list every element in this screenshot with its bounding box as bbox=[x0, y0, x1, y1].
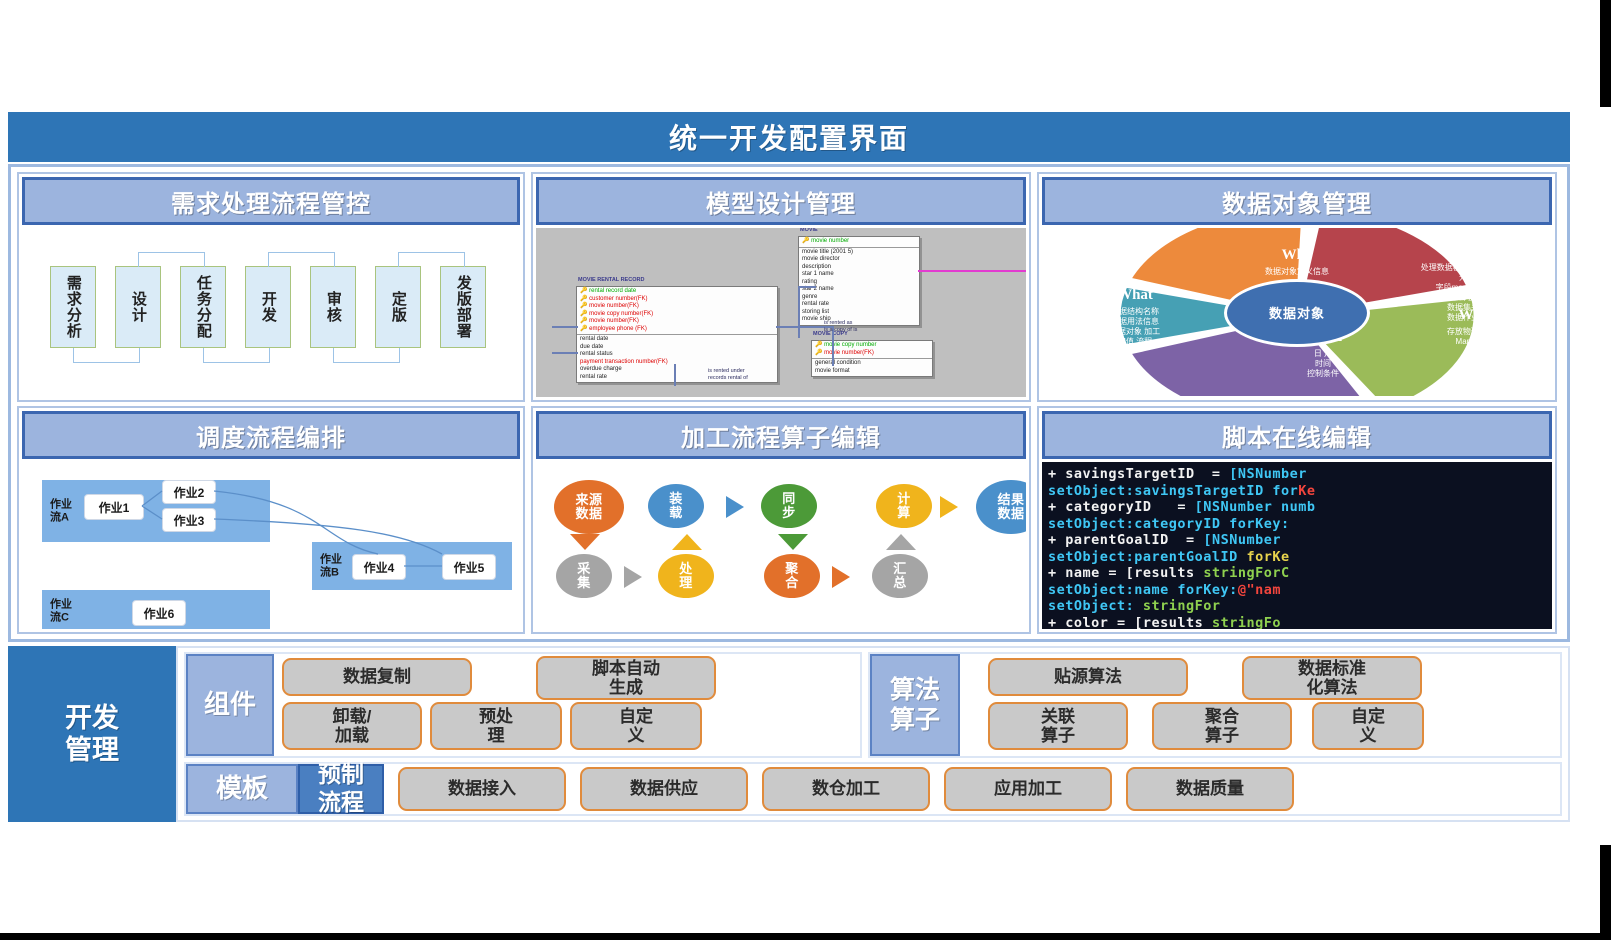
panel-operator-edit[interactable]: 加工流程算子编辑 来源数据装载同步计算结果数据采集处理聚合汇总 bbox=[531, 406, 1031, 634]
panel-scheduling-body: 作业流A作业流B作业流C作业1作业2作业3作业4作业5作业6 bbox=[22, 462, 520, 629]
panel-data-object-title: 数据对象管理 bbox=[1222, 184, 1372, 219]
panel-model-design-body: 🔑 rental record date🔑 customer number(FK… bbox=[536, 228, 1026, 397]
operator-node[interactable]: 处理 bbox=[658, 554, 714, 598]
panel-row-1: 需求处理流程管控 需求分析设计任务分配开发审核定版发版部署 模型设计管理 🔑 r… bbox=[17, 172, 1563, 402]
panel-script-editor[interactable]: 脚本在线编辑 + savingsTargetID = [NSNumber set… bbox=[1037, 406, 1557, 634]
development-management-label-text: 开发管理 bbox=[65, 702, 119, 767]
data-object-pie-chart: Who数据对象定义信息How处理数据模型 数据分 数据元数 字段mapping信… bbox=[1042, 228, 1552, 397]
pie-center: 数据对象 bbox=[1224, 279, 1370, 347]
dev-pill-label: 自定义 bbox=[619, 707, 653, 745]
requirement-step[interactable]: 发版部署 bbox=[440, 266, 486, 348]
dev-group-label-text: 算法算子 bbox=[890, 675, 940, 735]
panel-requirement-process-body: 需求分析设计任务分配开发审核定版发版部署 bbox=[22, 228, 520, 397]
dev-pill[interactable]: 数据复制 bbox=[282, 658, 472, 696]
panel-requirement-process-title: 需求处理流程管控 bbox=[171, 184, 371, 219]
flow-connector bbox=[268, 252, 335, 267]
dev-pill[interactable]: 数据标准化算法 bbox=[1242, 656, 1422, 700]
dev-group: 组件数据复制脚本自动生成卸载/加载预处理自定义 bbox=[184, 652, 862, 758]
er-relation-line bbox=[552, 326, 578, 328]
pie-label-who: Who数据对象定义信息 bbox=[1192, 246, 1402, 277]
dev-group-label[interactable]: 模板 bbox=[186, 764, 298, 814]
dev-pill-label: 预处理 bbox=[479, 707, 513, 745]
operator-node-label: 结果数据 bbox=[997, 493, 1024, 520]
requirement-step-label: 定版 bbox=[390, 291, 406, 323]
operator-arrow bbox=[672, 534, 702, 550]
operator-arrow bbox=[940, 496, 958, 518]
er-table-keys: 🔑 movie copy number🔑 movie number(FK) bbox=[812, 341, 932, 358]
panel-scheduling[interactable]: 调度流程编排 作业流A作业流B作业流C作业1作业2作业3作业4作业5作业6 bbox=[17, 406, 525, 634]
dev-group: 模板 预制流程数据接入数据供应数仓加工应用加工数据质量 bbox=[184, 762, 1562, 816]
panel-data-object-body: Who数据对象定义信息How处理数据模型 数据分 数据元数 字段mapping信… bbox=[1042, 228, 1552, 397]
pie-label-title: Where bbox=[1410, 306, 1550, 325]
operator-arrow bbox=[570, 534, 600, 550]
er-table-fields: general conditionmovie format bbox=[812, 358, 932, 376]
operator-node[interactable]: 同步 bbox=[761, 484, 817, 528]
operator-node-label: 同步 bbox=[782, 492, 796, 519]
operator-node-label: 来源数据 bbox=[575, 493, 602, 520]
dev-pill[interactable]: 自定义 bbox=[1312, 702, 1424, 750]
er-relation-line bbox=[798, 286, 816, 288]
operator-node-label: 采集 bbox=[577, 562, 591, 589]
operator-arrow bbox=[832, 566, 850, 588]
er-relation-note: is rented underrecords rental of bbox=[708, 368, 748, 381]
operator-flow-diagram: 来源数据装载同步计算结果数据采集处理聚合汇总 bbox=[536, 462, 1026, 629]
requirement-step-label: 设计 bbox=[130, 291, 146, 323]
pie-label-desc: 存放物理库表 位置Mapping 关系 bbox=[1410, 327, 1550, 347]
requirement-step-label: 开发 bbox=[260, 291, 276, 323]
flow-connector bbox=[333, 348, 400, 363]
development-management-section: 开发管理 组件数据复制脚本自动生成卸载/加载预处理自定义 算法算子贴源算法数据标… bbox=[8, 646, 1570, 822]
dev-pill-label: 关联算子 bbox=[1041, 707, 1075, 745]
pie-label-title: How bbox=[1382, 242, 1552, 261]
operator-node-label: 装载 bbox=[669, 492, 683, 519]
dev-pill[interactable]: 应用加工 bbox=[944, 767, 1112, 811]
operator-node[interactable]: 来源数据 bbox=[554, 480, 624, 534]
flow-connector bbox=[138, 252, 205, 267]
dev-pill[interactable]: 脚本自动生成 bbox=[536, 656, 716, 700]
page-title: 统一开发配置界面 bbox=[8, 112, 1570, 162]
panel-operator-edit-title: 加工流程算子编辑 bbox=[681, 418, 881, 453]
operator-node[interactable]: 聚合 bbox=[764, 554, 820, 598]
dev-subgroup-label[interactable]: 预制流程 bbox=[298, 764, 384, 814]
dev-pill-label: 数据标准化算法 bbox=[1298, 659, 1366, 697]
er-table-fields: movie title (2001 5)movie directordescri… bbox=[799, 247, 919, 325]
panel-row-2: 调度流程编排 作业流A作业流B作业流C作业1作业2作业3作业4作业5作业6 加工… bbox=[17, 406, 1563, 634]
dev-pill-label: 贴源算法 bbox=[1054, 667, 1122, 686]
panel-script-editor-header: 脚本在线编辑 bbox=[1042, 411, 1552, 459]
dev-pill-label: 自定义 bbox=[1351, 707, 1385, 745]
panel-requirement-process-header: 需求处理流程管控 bbox=[22, 177, 520, 225]
er-table[interactable]: 🔑 movie numbermovie title (2001 5)movie … bbox=[798, 236, 920, 326]
er-relation-line-highlight bbox=[918, 270, 1026, 272]
dev-pill[interactable]: 自定义 bbox=[570, 702, 702, 750]
panel-scheduling-header: 调度流程编排 bbox=[22, 411, 520, 459]
panel-data-object-header: 数据对象管理 bbox=[1042, 177, 1552, 225]
dev-pill[interactable]: 关联算子 bbox=[988, 702, 1128, 750]
operator-node[interactable]: 汇总 bbox=[872, 554, 928, 598]
er-relation-line bbox=[552, 352, 578, 354]
development-management-label: 开发管理 bbox=[8, 646, 176, 822]
dev-pill-label: 数据供应 bbox=[630, 779, 698, 798]
panel-scheduling-title: 调度流程编排 bbox=[196, 418, 346, 453]
dev-pill-label: 数据接入 bbox=[448, 779, 516, 798]
job-connector bbox=[142, 491, 162, 506]
requirement-flow-diagram: 需求分析设计任务分配开发审核定版发版部署 bbox=[22, 228, 520, 397]
panel-operator-edit-body: 来源数据装载同步计算结果数据采集处理聚合汇总 bbox=[536, 462, 1026, 629]
requirement-step[interactable]: 定版 bbox=[375, 266, 421, 348]
er-table-title: MOVIE bbox=[800, 228, 818, 234]
operator-node[interactable]: 结果数据 bbox=[976, 480, 1026, 534]
page-title-text: 统一开发配置界面 bbox=[669, 117, 909, 157]
code-editor[interactable]: + savingsTargetID = [NSNumber setObject:… bbox=[1042, 462, 1552, 629]
dev-pill-label: 数仓加工 bbox=[812, 779, 880, 798]
flow-connector bbox=[203, 348, 270, 363]
operator-arrow bbox=[886, 534, 916, 550]
requirement-step[interactable]: 设计 bbox=[115, 266, 161, 348]
dev-group-label[interactable]: 组件 bbox=[186, 654, 274, 756]
panel-model-design[interactable]: 模型设计管理 🔑 rental record date🔑 customer nu… bbox=[531, 172, 1031, 402]
operator-node[interactable]: 计算 bbox=[876, 484, 932, 528]
er-table[interactable]: 🔑 movie copy number🔑 movie number(FK)gen… bbox=[811, 340, 933, 377]
development-row-top: 组件数据复制脚本自动生成卸载/加载预处理自定义 算法算子贴源算法数据标准化算法关… bbox=[184, 652, 1562, 758]
er-relation-note: is rented asis a copy of is bbox=[824, 320, 857, 333]
edge-bar-bottom bbox=[0, 933, 1611, 940]
operator-arrow bbox=[726, 496, 744, 518]
operator-node-label: 处理 bbox=[679, 562, 693, 589]
code-lines: + savingsTargetID = [NSNumber setObject:… bbox=[1048, 466, 1552, 629]
job-connectors bbox=[22, 462, 520, 629]
er-table-keys: 🔑 movie number bbox=[799, 237, 919, 247]
architecture-figure: 统一开发配置界面 需求处理流程管控 需求分析设计任务分配开发审核定版发版部署 模… bbox=[8, 112, 1592, 822]
operator-node-label: 聚合 bbox=[785, 562, 799, 589]
dev-pill-label: 卸载/加载 bbox=[333, 707, 372, 745]
dev-pill-area: 贴源算法数据标准化算法关联算子聚合算子自定义 bbox=[960, 654, 1560, 756]
er-table-title: MOVIE RENTAL RECORD bbox=[578, 277, 644, 284]
pie-label-title: Who bbox=[1192, 246, 1402, 265]
scheduling-diagram: 作业流A作业流B作业流C作业1作业2作业3作业4作业5作业6 bbox=[22, 462, 520, 629]
requirement-step-label: 审核 bbox=[325, 291, 341, 323]
flow-connector bbox=[398, 252, 465, 267]
requirement-step-label: 发版部署 bbox=[455, 275, 471, 339]
er-diagram: 🔑 rental record date🔑 customer number(FK… bbox=[536, 228, 1026, 397]
requirement-step[interactable]: 审核 bbox=[310, 266, 356, 348]
dev-subgroup-label-text: 预制流程 bbox=[318, 761, 364, 816]
dev-group-label-text: 组件 bbox=[204, 689, 256, 720]
flow-connector bbox=[73, 348, 140, 363]
er-table-keys: 🔑 rental record date🔑 customer number(FK… bbox=[577, 287, 777, 334]
job-connector bbox=[214, 519, 442, 554]
operator-node[interactable]: 装载 bbox=[648, 484, 704, 528]
pie-label-where: Where存放物理库表 位置Mapping 关系 bbox=[1410, 306, 1550, 347]
dev-pill[interactable]: 数据质量 bbox=[1126, 767, 1294, 811]
dev-pill-label: 应用加工 bbox=[994, 779, 1062, 798]
dev-pill-area: 数据复制脚本自动生成卸载/加载预处理自定义 bbox=[274, 654, 860, 756]
dev-pill[interactable]: 数仓加工 bbox=[762, 767, 930, 811]
dev-pill-label: 数据复制 bbox=[343, 667, 411, 686]
dev-pill-label: 数据质量 bbox=[1176, 779, 1244, 798]
edge-bar-bottom-right bbox=[1600, 845, 1611, 933]
job-connector bbox=[214, 491, 378, 554]
requirement-step[interactable]: 开发 bbox=[245, 266, 291, 348]
edge-bar-top-right bbox=[1600, 0, 1611, 107]
dev-pill[interactable]: 贴源算法 bbox=[988, 658, 1188, 696]
requirement-step[interactable]: 任务分配 bbox=[180, 266, 226, 348]
requirement-step-label: 需求分析 bbox=[65, 275, 81, 339]
job-connector bbox=[142, 506, 162, 519]
operator-node-label: 计算 bbox=[897, 492, 911, 519]
operator-node-label: 汇总 bbox=[893, 562, 907, 589]
dev-group: 算法算子贴源算法数据标准化算法关联算子聚合算子自定义 bbox=[868, 652, 1562, 758]
pie-label-desc: 数据结构名称数据用法信息数据对象 加工加值 流程 bbox=[1060, 307, 1210, 347]
development-management-content: 组件数据复制脚本自动生成卸载/加载预处理自定义 算法算子贴源算法数据标准化算法关… bbox=[176, 646, 1570, 822]
dev-pill-label: 聚合算子 bbox=[1205, 707, 1239, 745]
pie-label-desc: 日 月时间控制条件 bbox=[1238, 349, 1408, 379]
requirement-step[interactable]: 需求分析 bbox=[50, 266, 96, 348]
pie-center-label: 数据对象 bbox=[1269, 303, 1325, 322]
pie-label-desc: 数据对象定义信息 bbox=[1192, 267, 1402, 277]
operator-arrow bbox=[778, 534, 808, 550]
dev-group-label[interactable]: 算法算子 bbox=[870, 654, 960, 756]
dev-pill-label: 脚本自动生成 bbox=[592, 659, 660, 697]
pie-label-what: What数据结构名称数据用法信息数据对象 加工加值 流程 bbox=[1060, 286, 1210, 347]
panel-data-object[interactable]: 数据对象管理 Who数据对象定义信息How处理数据模型 数据分 数据元数 字段m… bbox=[1037, 172, 1557, 402]
panel-script-editor-title: 脚本在线编辑 bbox=[1222, 418, 1372, 453]
panel-operator-edit-header: 加工流程算子编辑 bbox=[536, 411, 1026, 459]
dev-pill[interactable]: 卸载/加载 bbox=[282, 702, 422, 750]
operator-arrow bbox=[624, 566, 642, 588]
panel-script-editor-body: + savingsTargetID = [NSNumber setObject:… bbox=[1042, 462, 1552, 629]
dev-pill[interactable]: 预处理 bbox=[430, 702, 562, 750]
panel-model-design-title: 模型设计管理 bbox=[706, 184, 856, 219]
dev-pill-area: 数据接入数据供应数仓加工应用加工数据质量 bbox=[384, 764, 1560, 814]
dev-group-label-text: 模板 bbox=[216, 773, 268, 804]
dev-pill[interactable]: 数据供应 bbox=[580, 767, 748, 811]
pie-label-title: What bbox=[1060, 286, 1210, 305]
operator-node[interactable]: 采集 bbox=[556, 554, 612, 598]
dev-pill[interactable]: 数据接入 bbox=[398, 767, 566, 811]
requirement-step-label: 任务分配 bbox=[195, 275, 211, 339]
er-relation-line bbox=[798, 288, 800, 338]
panels-container: 需求处理流程管控 需求分析设计任务分配开发审核定版发版部署 模型设计管理 🔑 r… bbox=[8, 164, 1570, 642]
development-row-bottom: 模板 预制流程数据接入数据供应数仓加工应用加工数据质量 bbox=[184, 762, 1562, 816]
panel-requirement-process[interactable]: 需求处理流程管控 需求分析设计任务分配开发审核定版发版部署 bbox=[17, 172, 525, 402]
panel-model-design-header: 模型设计管理 bbox=[536, 177, 1026, 225]
er-relation-line bbox=[674, 364, 676, 386]
dev-pill[interactable]: 聚合算子 bbox=[1152, 702, 1292, 750]
